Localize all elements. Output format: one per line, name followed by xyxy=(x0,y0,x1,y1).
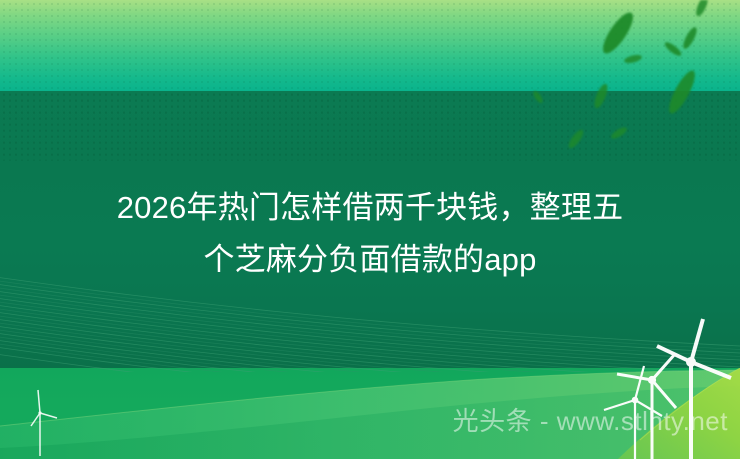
background-band-top xyxy=(0,0,740,91)
site-watermark: 光头条 - www.stlhty.net xyxy=(0,406,728,436)
banner-headline: 2026年热门怎样借两千块钱，整理五 个芝麻分负面借款的app xyxy=(0,182,740,286)
promo-banner: 2026年热门怎样借两千块钱，整理五 个芝麻分负面借款的app 光头条 - ww… xyxy=(0,0,740,459)
